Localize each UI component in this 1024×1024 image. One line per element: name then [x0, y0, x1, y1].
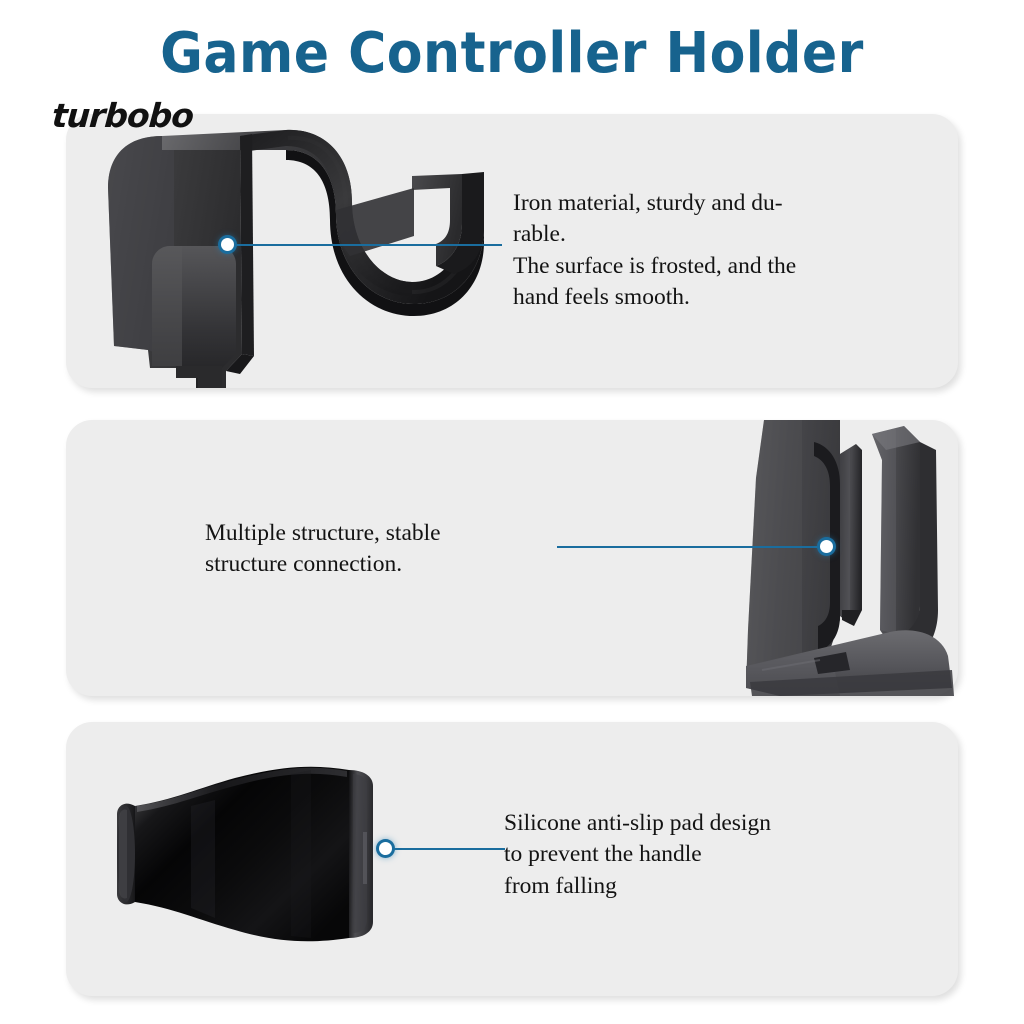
callout-dot-1: [221, 238, 234, 251]
callout-leader-line-2: [557, 546, 825, 548]
product-image-holder-hook: [90, 116, 520, 388]
callout-dot-2: [820, 540, 833, 553]
callout-dot-3: [379, 842, 392, 855]
callout-text-silicone-pad: Silicone anti-slip pad design to prevent…: [504, 808, 924, 902]
callout-text-iron-material: Iron material, sturdy and du- rable. The…: [513, 188, 933, 313]
callout-text-multiple-structure: Multiple structure, stable structure con…: [205, 518, 585, 581]
product-image-structure-closeup: [690, 420, 958, 696]
callout-leader-line-3: [387, 848, 505, 850]
page-title: Game Controller Holder: [36, 22, 988, 86]
product-image-silicone-pad: [95, 752, 435, 967]
callout-leader-line-1: [230, 244, 502, 246]
